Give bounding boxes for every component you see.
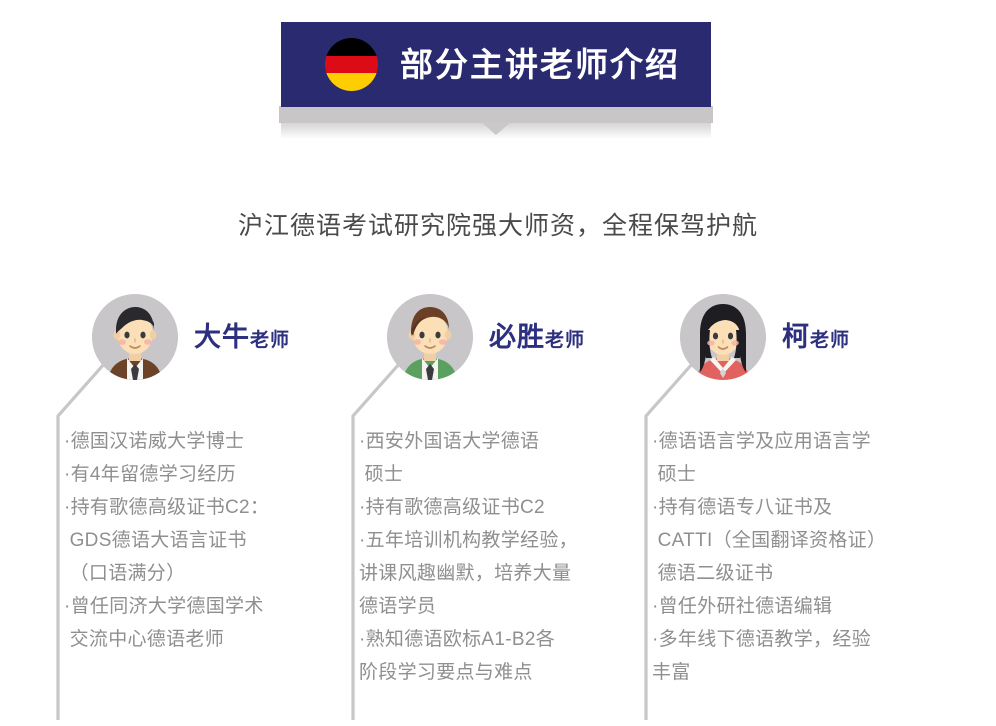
teacher-name-suffix: 老师 — [810, 330, 850, 351]
bullet-line: 硕士 — [652, 458, 942, 491]
teacher-bullets: ·德国汉诺威大学博士 ·有4年留德学习经历 ·持有歌德高级证书C2： GDS德语… — [64, 425, 354, 656]
bullet-line: 讲课风趣幽默，培养大量 — [359, 557, 649, 590]
bullet-line: ·德语语言学及应用语言学 — [652, 425, 942, 458]
teacher-header: 大牛老师 — [92, 289, 290, 385]
flag-band-gold — [325, 73, 378, 91]
banner-shadow-bar — [279, 106, 713, 123]
header-banner: 部分主讲老师介绍 — [281, 22, 711, 107]
bullet-line: ·熟知德语欧标A1-B2各 — [359, 623, 649, 656]
avatar — [680, 294, 766, 380]
bullet-line: CATTI（全国翻译资格证） — [652, 524, 942, 557]
bullet-line: （口语满分） — [64, 557, 354, 590]
teacher-name-suffix: 老师 — [545, 330, 585, 351]
bullet-line: GDS德语大语言证书 — [64, 524, 354, 557]
page-title: 部分主讲老师介绍 — [400, 48, 680, 81]
bullet-line: ·五年培训机构教学经验， — [359, 524, 649, 557]
bullet-line: ·持有德语专八证书及 — [652, 491, 942, 524]
teacher-name-main: 柯 — [782, 322, 810, 352]
bullet-line: 德语学员 — [359, 590, 649, 623]
avatar — [387, 294, 473, 380]
bullet-line: ·西安外国语大学德语 — [359, 425, 649, 458]
bullet-line: 硕士 — [359, 458, 649, 491]
bullet-line: 阶段学习要点与难点 — [359, 656, 649, 689]
bullet-line: 德语二级证书 — [652, 557, 942, 590]
bullet-line: 丰富 — [652, 656, 942, 689]
bullet-line: ·有4年留德学习经历 — [64, 458, 354, 491]
teacher-name-main: 大牛 — [194, 322, 250, 352]
header-banner-area: 部分主讲老师介绍 — [0, 0, 996, 150]
teacher-list: 大牛老师 ·德国汉诺威大学博士 ·有4年留德学习经历 ·持有歌德高级证书C2： … — [0, 285, 996, 726]
flag-band-red — [325, 56, 378, 74]
teacher-header: 必胜老师 — [387, 289, 585, 385]
flag-band-black — [325, 38, 378, 56]
subtitle-text: 沪江德语考试研究院强大师资，全程保驾护航 — [0, 206, 996, 242]
teacher-name: 大牛老师 — [194, 324, 290, 351]
teacher-name: 柯老师 — [782, 324, 850, 351]
teacher-card: 柯老师 ·德语语言学及应用语言学 硕士 ·持有德语专八证书及 CATTI（全国翻… — [636, 285, 946, 726]
german-flag-icon — [325, 38, 378, 91]
teacher-card: 必胜老师 ·西安外国语大学德语 硕士 ·持有歌德高级证书C2 ·五年培训机构教学… — [343, 285, 653, 726]
bullet-line: ·曾任外研社德语编辑 — [652, 590, 942, 623]
teacher-bullets: ·西安外国语大学德语 硕士 ·持有歌德高级证书C2 ·五年培训机构教学经验， 讲… — [359, 425, 649, 689]
teacher-bullets: ·德语语言学及应用语言学 硕士 ·持有德语专八证书及 CATTI（全国翻译资格证… — [652, 425, 942, 689]
avatar — [92, 294, 178, 380]
teacher-name-main: 必胜 — [489, 322, 545, 352]
banner-notch-triangle — [481, 122, 511, 135]
teacher-card: 大牛老师 ·德国汉诺威大学博士 ·有4年留德学习经历 ·持有歌德高级证书C2： … — [48, 285, 358, 726]
bullet-line: ·持有歌德高级证书C2 — [359, 491, 649, 524]
bullet-line: ·持有歌德高级证书C2： — [64, 491, 354, 524]
bullet-line: ·曾任同济大学德国学术 — [64, 590, 354, 623]
bullet-line: 交流中心德语老师 — [64, 623, 354, 656]
teacher-header: 柯老师 — [680, 289, 850, 385]
bullet-line: ·多年线下德语教学，经验 — [652, 623, 942, 656]
teacher-name-suffix: 老师 — [250, 330, 290, 351]
bullet-line: ·德国汉诺威大学博士 — [64, 425, 354, 458]
teacher-name: 必胜老师 — [489, 324, 585, 351]
